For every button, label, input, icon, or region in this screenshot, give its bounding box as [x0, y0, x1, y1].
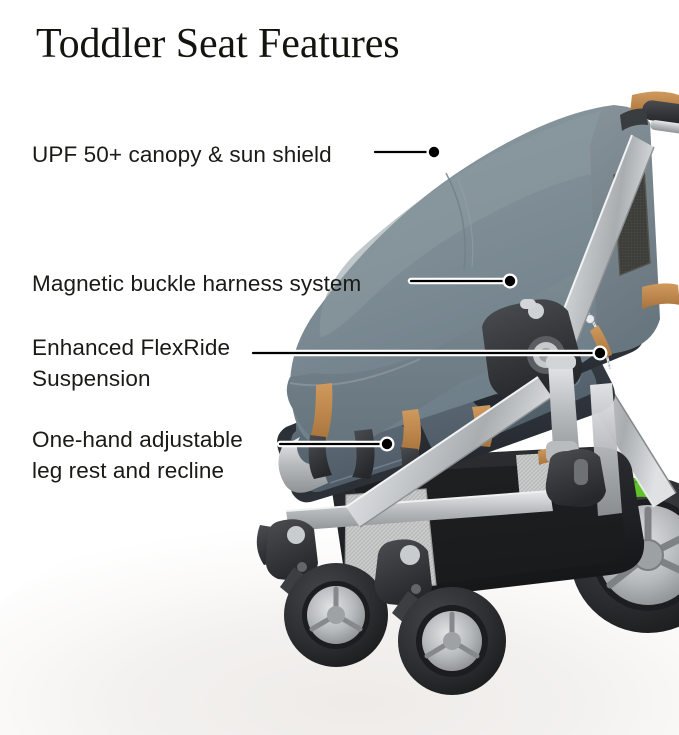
feature-label-legrest: One-hand adjustable leg rest and recline — [32, 424, 243, 486]
canopy-leather-tab — [642, 283, 679, 309]
infographic-canvas: Toddler Seat Features UPF 50+ canopy & s… — [0, 0, 679, 679]
feature-label-harness: Magnetic buckle harness system — [32, 268, 361, 299]
page-title: Toddler Seat Features — [36, 21, 400, 67]
feature-label-suspension: Enhanced FlexRide Suspension — [32, 332, 230, 394]
feature-label-canopy: UPF 50+ canopy & sun shield — [32, 139, 332, 170]
